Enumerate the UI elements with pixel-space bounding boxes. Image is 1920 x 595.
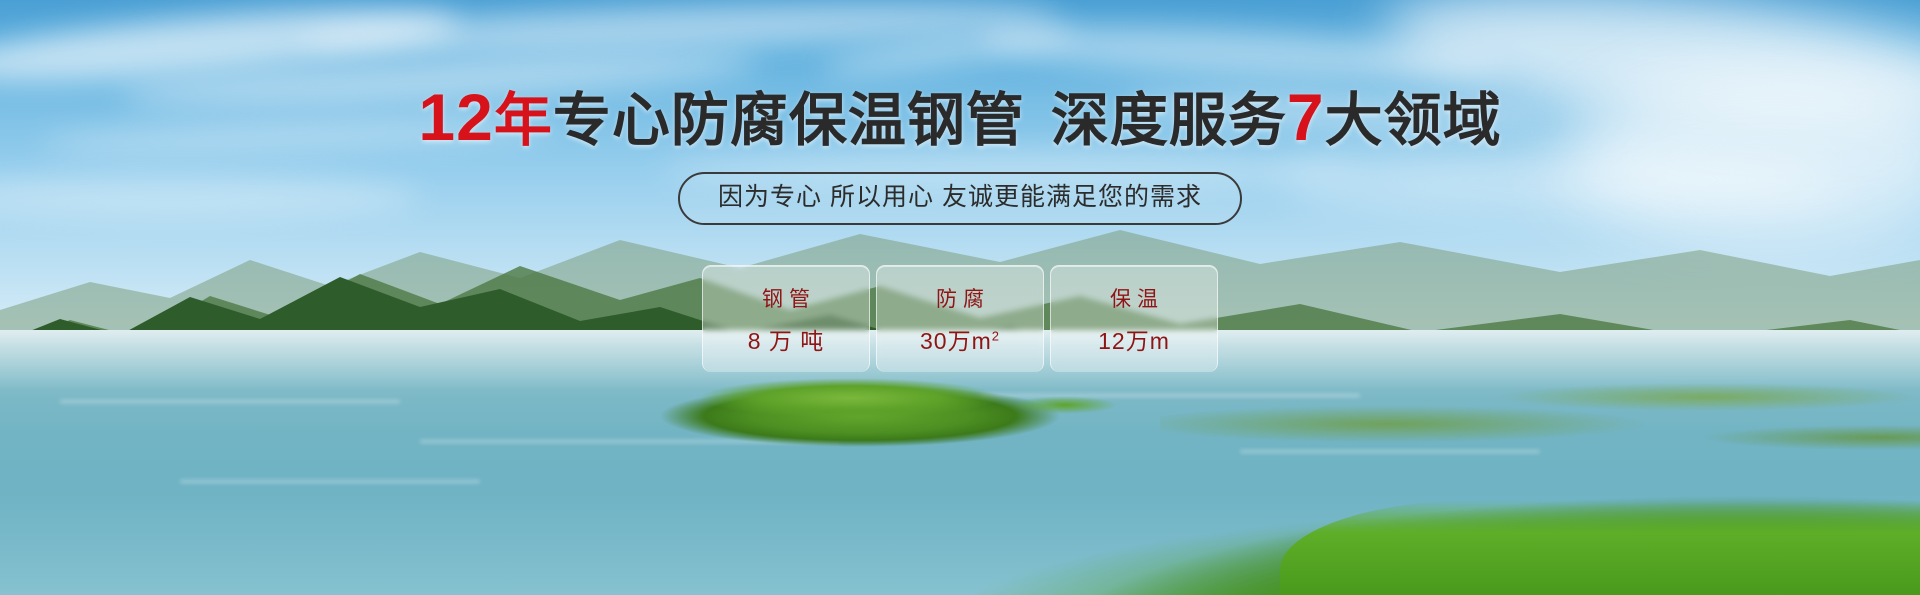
stat-card-label: 钢管: [756, 283, 816, 313]
stat-card-label: 防腐: [930, 283, 990, 313]
grass-foreground: [1280, 500, 1920, 595]
banner-content: 12年专心防腐保温钢管深度服务7大领域 因为专心 所以用心 友诚更能满足您的需求: [0, 0, 1920, 225]
stat-card-value-text: 8 万 吨: [748, 328, 825, 354]
stat-card-value: 30万m2: [920, 322, 1000, 356]
stat-card-value-text: 12万m: [1098, 328, 1170, 354]
stat-card-steel-pipe: 钢管 8 万 吨: [702, 265, 870, 372]
headline-fields-number: 7: [1287, 80, 1325, 154]
stat-card-label: 保温: [1104, 283, 1164, 313]
stat-card-value-text: 30万m: [920, 328, 992, 354]
stat-card-value: 12万m: [1098, 322, 1170, 356]
water-streak: [180, 480, 480, 483]
stat-card-value: 8 万 吨: [748, 322, 825, 356]
headline-main-third: 大领域: [1325, 88, 1502, 153]
water-streak: [60, 400, 400, 403]
stat-card-anticorrosion: 防腐 30万m2: [876, 265, 1044, 372]
hero-banner: 12年专心防腐保温钢管深度服务7大领域 因为专心 所以用心 友诚更能满足您的需求…: [0, 0, 1920, 595]
headline-years-unit: 年: [494, 88, 553, 153]
banner-subtitle-wrapper: 因为专心 所以用心 友诚更能满足您的需求: [0, 172, 1920, 225]
stat-card-insulation: 保温 12万m: [1050, 265, 1218, 372]
stat-cards: 钢管 8 万 吨 防腐 30万m2 保温 12万m: [702, 265, 1218, 372]
stat-card-value-sup: 2: [992, 328, 1000, 343]
headline-main-first: 专心防腐保温钢管: [553, 88, 1025, 153]
headline-main-second: 深度服务: [1051, 88, 1287, 153]
headline-years-number: 12: [418, 80, 493, 154]
banner-subtitle: 因为专心 所以用心 友诚更能满足您的需求: [678, 172, 1242, 225]
grass-island-highlight: [700, 378, 1000, 418]
banner-headline: 12年专心防腐保温钢管深度服务7大领域: [0, 84, 1920, 150]
